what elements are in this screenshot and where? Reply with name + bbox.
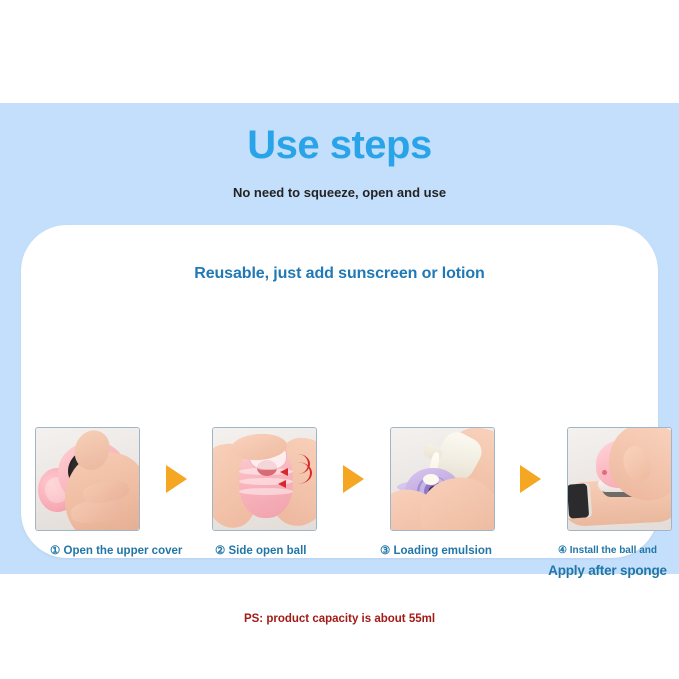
step-4-caption-line1: ④ Install the ball and — [558, 545, 657, 556]
step-1-photo — [36, 428, 139, 530]
step-4-caption: ④ Install the ball and Apply after spong… — [545, 543, 670, 579]
step-2-image-frame — [212, 427, 317, 531]
device-button-shape — [602, 470, 607, 475]
wristwatch-shape — [567, 483, 589, 518]
step-3-caption: ③ Loading emulsion — [380, 543, 492, 559]
red-arrow-head-icon — [280, 468, 288, 476]
steps-card: Reusable, just add sunscreen or lotion — [21, 225, 658, 558]
capacity-footnote: PS: product capacity is about 55ml — [21, 613, 658, 625]
step-4 — [567, 427, 672, 531]
step-3 — [390, 427, 495, 531]
arrow-right-icon — [520, 465, 541, 493]
product-infographic-page: Use steps No need to squeeze, open and u… — [0, 0, 679, 679]
arrow-1 — [140, 427, 212, 531]
step-1-image-frame — [35, 427, 140, 531]
step-3-photo — [391, 428, 494, 530]
red-arrow-head-icon — [278, 480, 286, 488]
step-1 — [35, 427, 140, 531]
step-2-photo — [213, 428, 316, 530]
page-title: Use steps — [0, 103, 679, 169]
step-4-caption-line2: Apply after sponge — [545, 559, 670, 579]
blue-banner-panel: Use steps No need to squeeze, open and u… — [0, 103, 679, 574]
page-subtitle: No need to squeeze, open and use — [0, 169, 679, 201]
step-1-caption: ① Open the upper cover — [50, 543, 182, 559]
arrow-3 — [495, 427, 567, 531]
arrow-right-icon — [343, 465, 364, 493]
arrow-2 — [317, 427, 389, 531]
step-2-caption: ② Side open ball — [215, 543, 306, 559]
step-4-photo — [568, 428, 671, 530]
step-4-image-frame — [567, 427, 672, 531]
banner-header: Use steps No need to squeeze, open and u… — [0, 103, 679, 201]
card-heading: Reusable, just add sunscreen or lotion — [21, 265, 658, 283]
arrow-right-icon — [166, 465, 187, 493]
step-3-image-frame — [390, 427, 495, 531]
step-2 — [212, 427, 317, 531]
steps-strip — [35, 423, 672, 535]
step-captions: ① Open the upper cover ② Side open ball … — [35, 543, 672, 613]
ball-rib-shape — [239, 488, 293, 495]
